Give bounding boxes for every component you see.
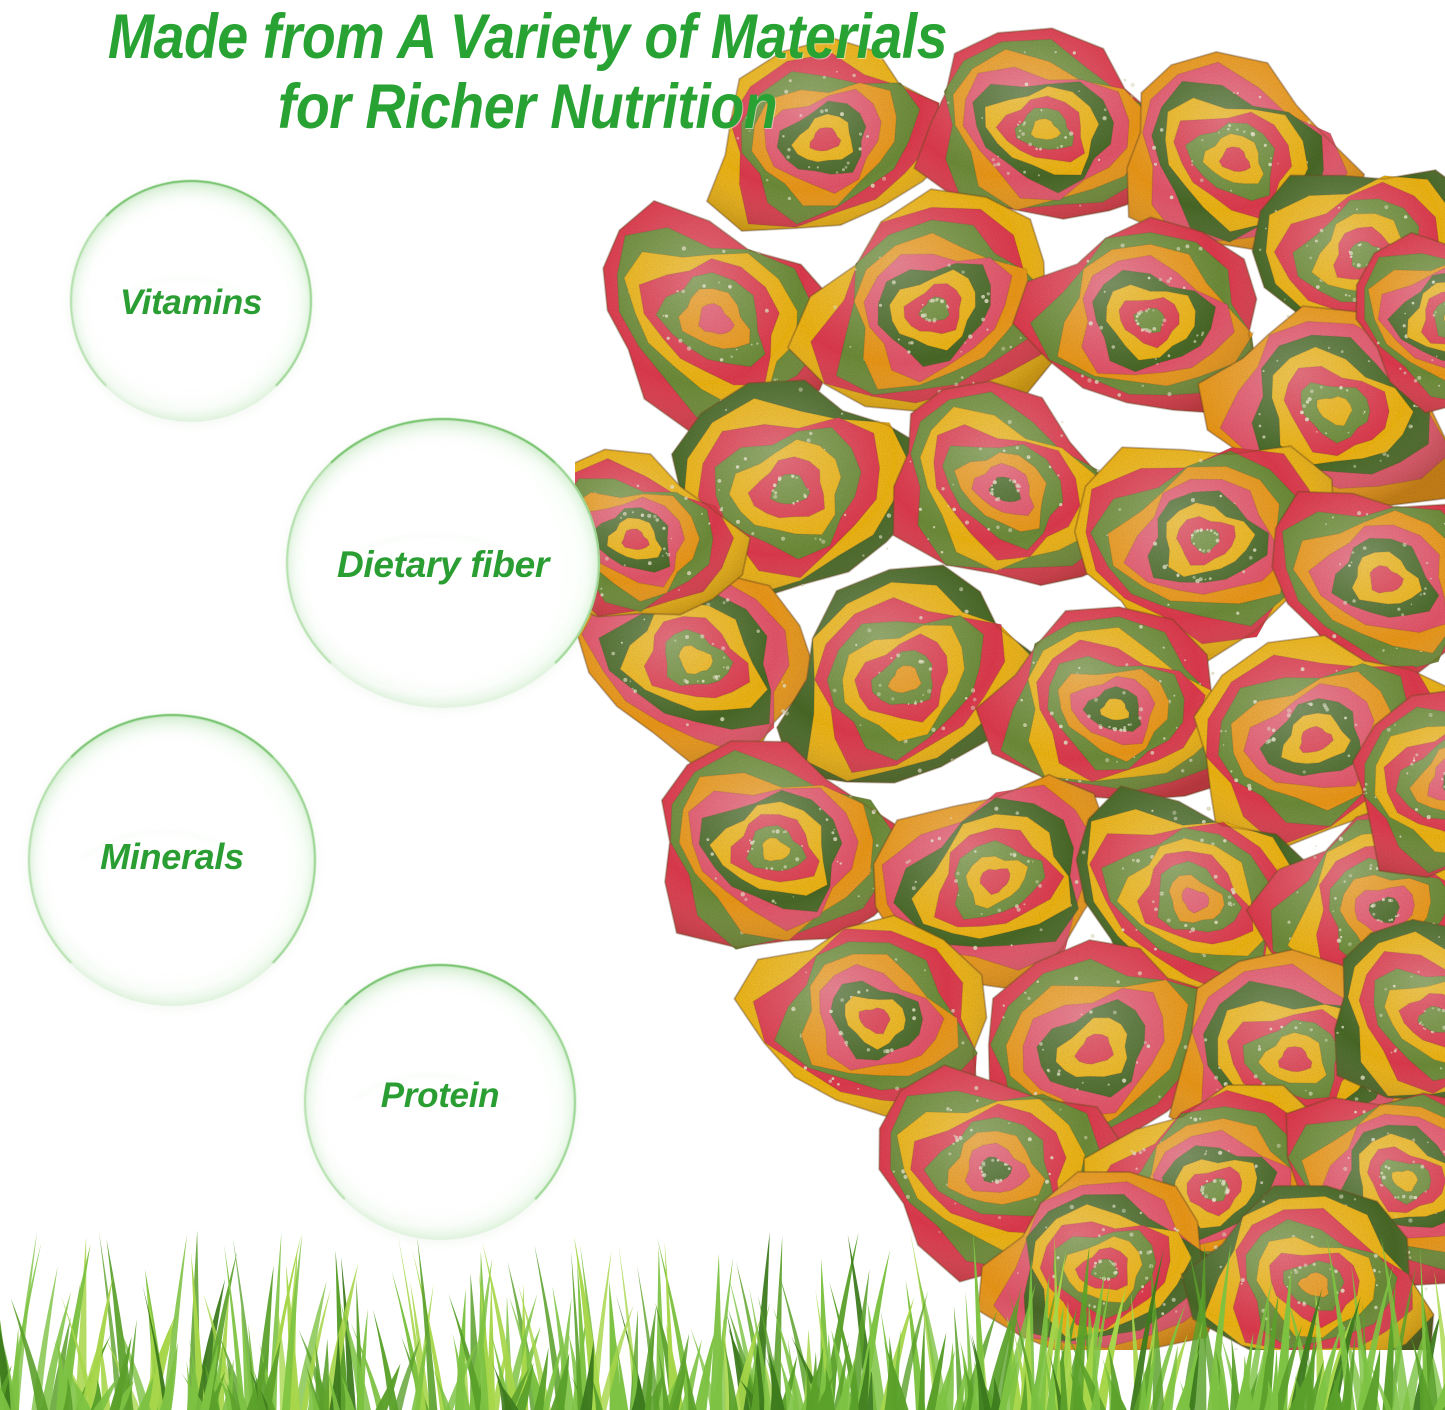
- bubble-label-vitamins: Vitamins: [70, 283, 312, 323]
- bubble-label-dietary-fiber: Dietary fiber: [286, 544, 600, 586]
- bubble-label-protein: Protein: [304, 1076, 576, 1116]
- grass-border: [0, 1225, 1445, 1410]
- promo-image-canvas: Made from A Variety of Materials for Ric…: [0, 0, 1445, 1410]
- nutrient-bubble-vitamins: Vitamins: [70, 180, 312, 422]
- product-photo-treat-pile: [575, 20, 1445, 1350]
- nutrient-bubble-protein: Protein: [304, 964, 576, 1240]
- nutrient-bubble-dietary-fiber: Dietary fiber: [286, 418, 600, 708]
- bubble-label-minerals: Minerals: [28, 836, 316, 878]
- nutrient-bubble-minerals: Minerals: [28, 714, 316, 1006]
